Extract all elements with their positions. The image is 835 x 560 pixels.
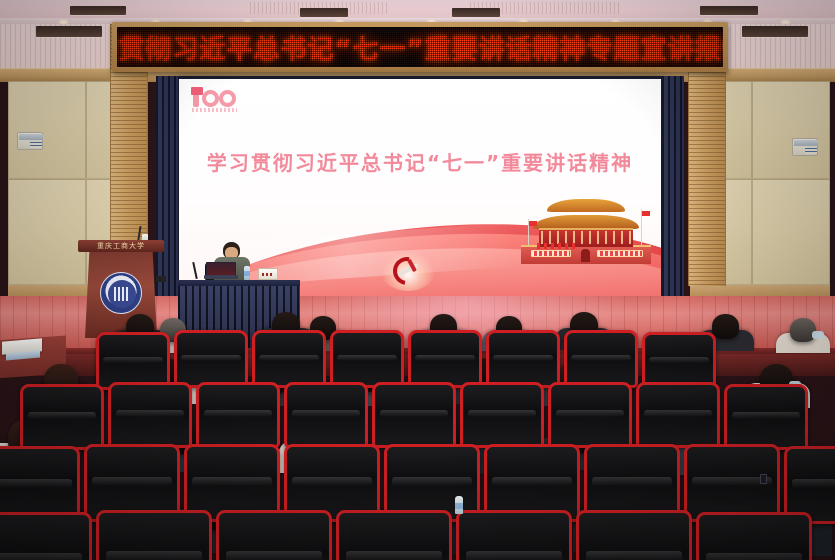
auditorium-seat[interactable] — [0, 512, 92, 560]
ceiling-vent-1 — [70, 6, 126, 15]
auditorium-seat[interactable] — [252, 330, 326, 388]
wall-panel-left-top-a — [8, 81, 86, 179]
auditorium-seat[interactable] — [456, 510, 572, 560]
auditorium-seat[interactable] — [564, 330, 638, 388]
tiananmen-slogan-left — [531, 250, 571, 257]
stage-drape-right — [662, 76, 684, 304]
wall-vent-right — [742, 26, 808, 37]
tiananmen-upper-roof — [547, 199, 625, 212]
table-microphone-icon — [192, 262, 197, 279]
tiananmen-lower-roof — [533, 215, 639, 229]
centenary-100-logo — [191, 87, 239, 113]
auditorium-seat[interactable] — [696, 512, 812, 560]
audience-phone — [760, 474, 767, 484]
audience-area — [0, 300, 835, 560]
led-screen: 学习贯彻习近平总书记“七一”重要讲话精神专题宣讲报告会 — [117, 27, 723, 67]
seal-building-icon — [114, 287, 130, 301]
auditorium-seat[interactable] — [108, 382, 192, 448]
auditorium-seat[interactable] — [196, 382, 280, 448]
auditorium-seat[interactable] — [486, 330, 560, 388]
tiananmen-gate-illustration — [521, 197, 651, 271]
auditorium-seat[interactable] — [372, 382, 456, 448]
auditorium-seat[interactable] — [408, 330, 482, 388]
auditorium-photo: 学习贯彻习近平总书记“七一”重要讲话精神专题宣讲报告会 学习贯彻习近平总书记“七… — [0, 0, 835, 560]
ceiling-vent-2 — [300, 8, 348, 17]
tiananmen-flag-a — [642, 211, 650, 216]
led-banner-text: 学习贯彻习近平总书记“七一”重要讲话精神专题宣讲报告会 — [117, 29, 723, 66]
ceiling-vent-3 — [452, 8, 500, 17]
wall-socket-icon — [156, 276, 166, 282]
wall-panel-left-bot-a — [8, 179, 86, 285]
ceiling-vent-4 — [700, 6, 758, 15]
wall-panel-right-bot-b — [752, 179, 830, 285]
auditorium-seat[interactable] — [336, 510, 452, 560]
auditorium-seat[interactable] — [216, 510, 332, 560]
logo-digit-zero-a — [202, 90, 219, 107]
auditorium-seat[interactable] — [460, 382, 544, 448]
tiananmen-flag-b — [529, 221, 537, 226]
water-bottle — [244, 266, 250, 280]
face-mask — [812, 331, 824, 339]
attendee-head — [712, 314, 739, 339]
slide-title: 学习贯彻习近平总书记“七一”重要讲话精神 — [179, 147, 661, 176]
auditorium-seat[interactable] — [548, 382, 632, 448]
tiananmen-small-flags — [537, 243, 575, 249]
name-plate — [258, 268, 278, 280]
auditorium-seat[interactable] — [174, 330, 248, 388]
laptop-base — [204, 275, 238, 279]
wall-vent-left — [36, 26, 102, 37]
auditorium-seat[interactable] — [576, 510, 692, 560]
lectern-header-text: 重庆工商大学 — [78, 241, 164, 251]
auditorium-seat[interactable] — [96, 510, 212, 560]
audience-water-bottle — [455, 496, 463, 514]
laptop-screen — [206, 262, 236, 276]
logo-flag-icon — [191, 87, 203, 95]
wall-control-panel-left[interactable] — [17, 132, 43, 150]
tiananmen-slogan-right — [597, 250, 643, 257]
auditorium-seat[interactable] — [20, 384, 104, 450]
led-banner: 学习贯彻习近平总书记“七一”重要讲话精神专题宣讲报告会 — [112, 22, 728, 72]
auditorium-seat[interactable] — [724, 384, 808, 450]
logo-digit-zero-b — [219, 90, 236, 107]
auditorium-seat[interactable] — [330, 330, 404, 388]
logo-subtitle-text — [192, 108, 237, 112]
wall-panel-right-top-b — [752, 81, 830, 179]
auditorium-seat[interactable] — [636, 382, 720, 448]
attendee-head — [790, 318, 816, 342]
tiananmen-gate-arch — [581, 249, 590, 262]
wall-control-panel-right[interactable] — [792, 138, 818, 156]
cpc-party-emblem — [391, 255, 425, 279]
auditorium-seat[interactable] — [284, 382, 368, 448]
